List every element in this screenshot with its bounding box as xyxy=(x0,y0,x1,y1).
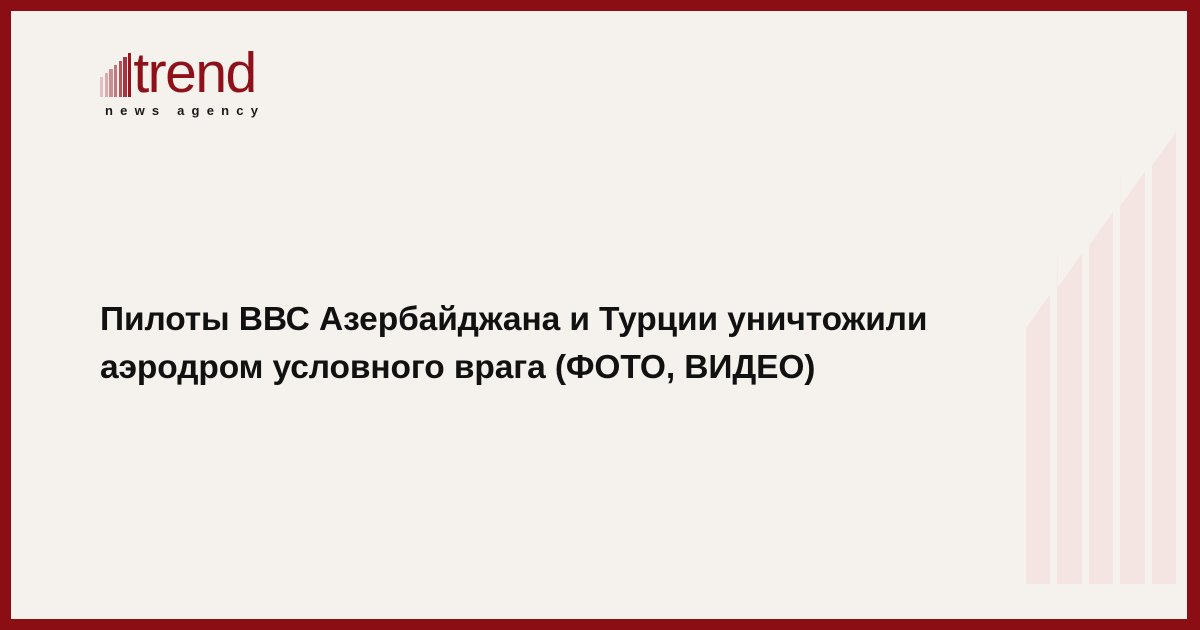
logo-bar xyxy=(105,73,108,97)
logo-bar xyxy=(128,53,131,97)
watermark-bar xyxy=(1152,132,1176,584)
logo-bar xyxy=(114,65,117,97)
logo-bar xyxy=(100,77,103,97)
ascending-bars-icon xyxy=(100,51,131,97)
logo-bar xyxy=(119,61,122,97)
logo-wordmark: trend xyxy=(133,47,255,99)
logo-tagline: news agency xyxy=(105,103,400,118)
logo-bar xyxy=(123,57,126,97)
page-title: Пилоты ВВС Азербайджана и Турции уничтож… xyxy=(100,296,1075,391)
brand-logo[interactable]: trend news agency xyxy=(100,41,400,118)
watermark-bar xyxy=(1120,172,1144,584)
card-canvas: trend news agency Пилоты ВВС Азербайджан… xyxy=(11,11,1187,619)
logo-wordmark-row: trend xyxy=(100,41,400,99)
logo-bar xyxy=(109,69,112,97)
watermark-bar xyxy=(1089,212,1113,584)
share-card: trend news agency Пилоты ВВС Азербайджан… xyxy=(0,0,1200,630)
